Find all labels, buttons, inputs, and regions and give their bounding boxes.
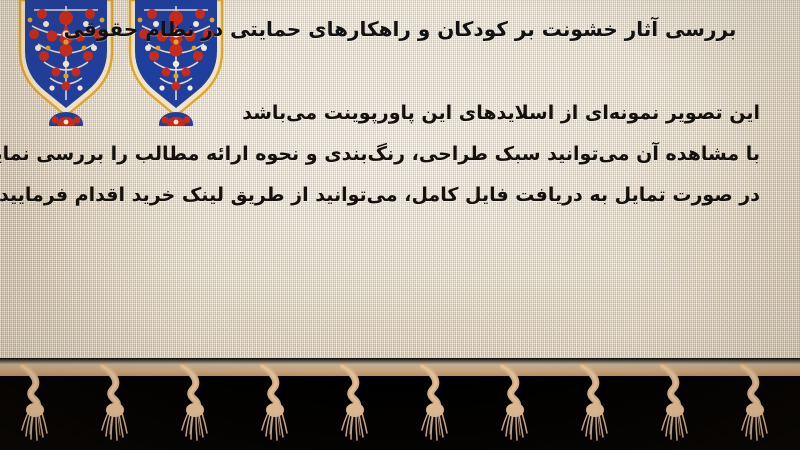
body-line: با مشاهده آن می‌توانید سبک طراحی، رنگ‌بن…: [20, 145, 760, 164]
fringe-tassel: [578, 364, 624, 444]
body-line: در صورت تمایل به دریافت فایل کامل، می‌تو…: [20, 186, 760, 205]
body-line: این تصویر نمونه‌ای از اسلایدهای این پاور…: [20, 104, 760, 123]
fringe-tassel: [498, 364, 544, 444]
fringe-tassel: [98, 364, 144, 444]
fringe-tassel: [738, 364, 784, 444]
fringe-tassel: [658, 364, 704, 444]
fringe-tassel: [338, 364, 384, 444]
presentation-slide: بررسی آثار خشونت بر کودکان و راهکارهای ح…: [0, 0, 800, 450]
fringe-tassel: [258, 364, 304, 444]
slide-body: این تصویر نمونه‌ای از اسلایدهای این پاور…: [20, 104, 760, 205]
fringe-tassel: [178, 364, 224, 444]
slide-title: بررسی آثار خشونت بر کودکان و راهکارهای ح…: [0, 16, 800, 42]
fringe-tassel: [418, 364, 464, 444]
carpet-fringe-zone: [0, 358, 800, 450]
fringe-tassel: [18, 364, 64, 444]
